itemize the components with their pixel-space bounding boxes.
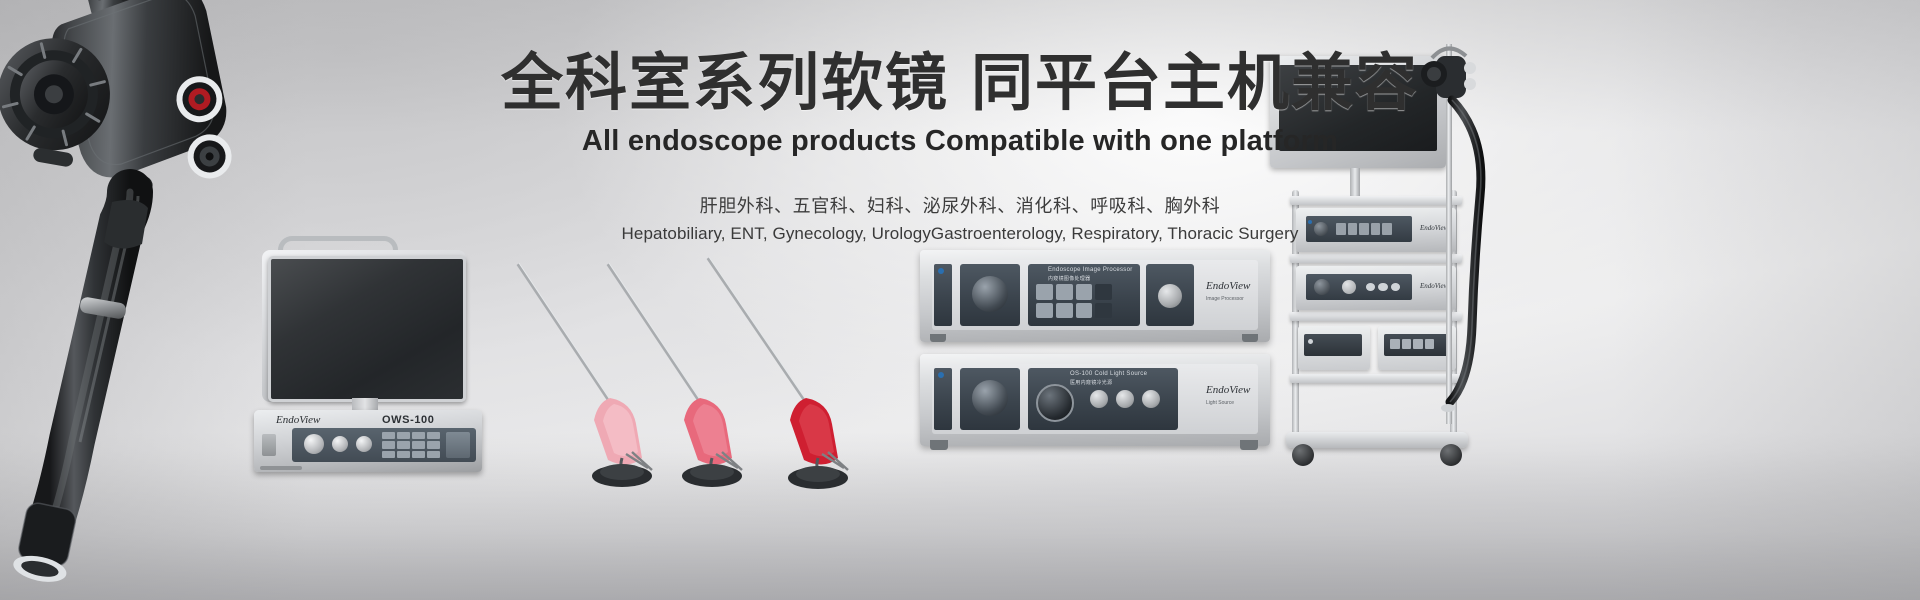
camera-processor-console: Endoscope Image Processor 内窥镜图像处理器 EndoV… — [920, 250, 1270, 342]
processor-button-grid[interactable] — [1036, 284, 1112, 318]
headline-part2: 同平台主机兼容 — [971, 46, 1419, 119]
laparoscopic-instrument-red — [700, 252, 860, 492]
lightsource-foot-right — [1240, 440, 1258, 450]
cart-caster-left — [1292, 444, 1314, 466]
processor-sub-label: Image Processor — [1206, 296, 1244, 302]
processor-scope-socket[interactable] — [972, 276, 1008, 312]
lightsource-power-led — [938, 372, 944, 378]
lightsource-button-1[interactable] — [1090, 390, 1108, 408]
workstation-side-button[interactable] — [446, 432, 470, 458]
processor-panel-label-cn: 内窥镜图像处理器 — [1048, 275, 1090, 282]
lightsource-foot-left — [930, 440, 948, 450]
lightsource-button-3[interactable] — [1142, 390, 1160, 408]
product-banner: 全科室系列软镜同平台主机兼容 All endoscope products Co… — [0, 0, 1920, 600]
lightsource-fiber-port[interactable] — [972, 380, 1008, 416]
processor-brand-label: EndoView — [1206, 280, 1250, 292]
cart-lightsource-knob[interactable] — [1342, 280, 1356, 294]
banner-copy: 全科室系列软镜同平台主机兼容 All endoscope products Co… — [0, 48, 1920, 244]
lightsource-brand-label: EndoView — [1206, 384, 1250, 396]
headline-part1: 全科室系列软镜 — [501, 46, 949, 119]
processor-menu-knob[interactable] — [1158, 284, 1182, 308]
cart-lightsource-socket[interactable] — [1314, 279, 1330, 295]
departments-chinese: 肝胆外科、五官科、妇科、泌尿外科、消化科、呼吸科、胸外科 — [0, 192, 1920, 218]
lightsource-panel-label-en: OS-100 Cold Light Source — [1070, 371, 1147, 377]
lightsource-left-accent — [934, 368, 952, 430]
departments-english: Hepatobiliary, ENT, Gynecology, UrologyG… — [0, 224, 1920, 244]
lightsource-brightness-knob[interactable] — [1036, 384, 1074, 422]
cart-aux-unit-left — [1298, 326, 1370, 370]
led-light-source-console: OS-100 Cold Light Source 医用内窥镜冷光源 EndoVi… — [920, 354, 1270, 446]
cart-aux-left-led — [1308, 339, 1313, 344]
cart-lightsource-buttons[interactable] — [1366, 283, 1400, 291]
endoview-console-stack: Endoscope Image Processor 内窥镜图像处理器 EndoV… — [920, 250, 1270, 460]
headline: 全科室系列软镜同平台主机兼容 — [0, 48, 1920, 117]
processor-power-led — [938, 268, 944, 274]
processor-foot-right — [1242, 334, 1258, 342]
processor-left-accent — [934, 264, 952, 326]
processor-panel-label-en: Endoscope Image Processor — [1048, 267, 1133, 273]
cart-aux-left-panel — [1304, 334, 1362, 356]
processor-foot-left — [930, 334, 946, 342]
subheadline: All endoscope products Compatible with o… — [0, 125, 1920, 158]
lightsource-button-2[interactable] — [1116, 390, 1134, 408]
lightsource-panel-label-cn: 医用内窥镜冷光源 — [1070, 379, 1112, 386]
lightsource-sub-label: Light Source — [1206, 400, 1234, 406]
